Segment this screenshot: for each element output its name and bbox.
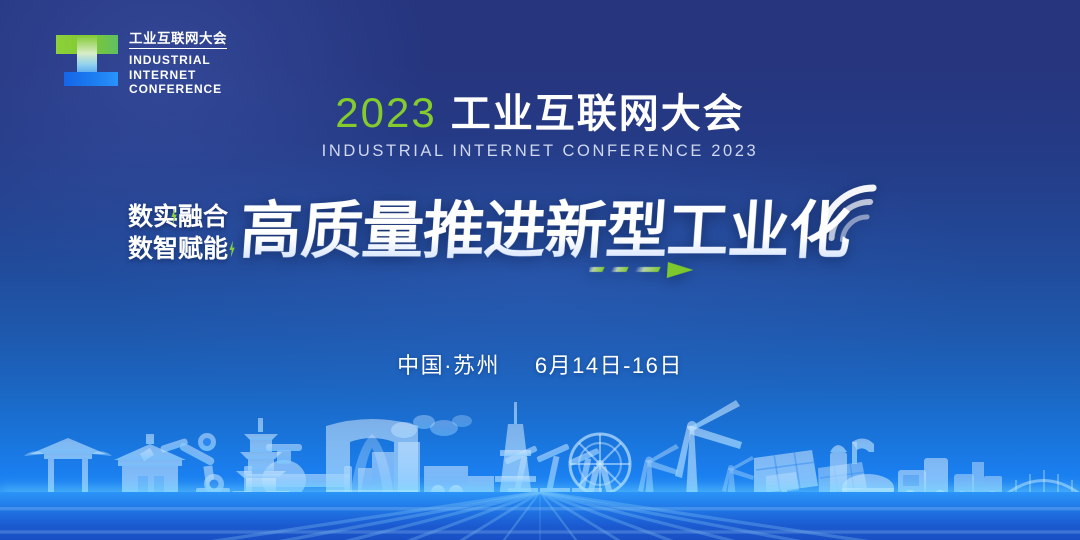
- slogan-main-text: 高质量推进新型工业化: [238, 197, 853, 266]
- conference-poster: 工业互联网大会 INDUSTRIAL INTERNET CONFERENCE 2…: [0, 0, 1080, 540]
- slogan-secondary-line-1-text: 数实融合: [128, 203, 228, 231]
- event-info-row: 中国·苏州 6月14日-16日: [0, 348, 1080, 380]
- logo-english-name: INDUSTRIAL INTERNET CONFERENCE: [129, 53, 227, 97]
- wifi-signal-icon: [813, 180, 887, 242]
- logo-block[interactable]: 工业互联网大会 INDUSTRIAL INTERNET CONFERENCE: [56, 28, 227, 97]
- industrial-internet-conference-logo-icon: [56, 28, 118, 90]
- event-dates: 6月14日-16日: [535, 353, 683, 378]
- event-location: 中国·苏州: [397, 353, 500, 378]
- chinese-pavilion-icon: [24, 438, 112, 498]
- logo-english-line-1: INDUSTRIAL: [129, 53, 227, 68]
- slogan-main: 高质量推进新型工业化: [237, 196, 852, 268]
- page-subtitle: INDUSTRIAL INTERNET CONFERENCE 2023: [322, 142, 759, 160]
- green-arrow-icon: [589, 260, 706, 280]
- city-industry-skyline: [0, 380, 1080, 540]
- logo-bottom-bar: [64, 72, 118, 86]
- page-title: 工业互联网大会: [451, 94, 745, 134]
- slogan-secondary: 数实融合 数智赋能: [128, 204, 228, 263]
- perspective-grid-floor: [0, 492, 1080, 540]
- logo-english-line-2: INTERNET: [129, 68, 227, 83]
- wind-turbine-icon: [638, 400, 754, 498]
- logo-chinese-name: 工业互联网大会: [129, 31, 227, 49]
- logo-text: 工业互联网大会 INDUSTRIAL INTERNET CONFERENCE: [129, 28, 227, 97]
- subtitle-row: INDUSTRIAL INTERNET CONFERENCE 2023: [0, 142, 1080, 161]
- slogan-secondary-line-2: 数智赋能: [128, 236, 228, 263]
- slogan-secondary-line-1: 数实融合: [128, 204, 228, 231]
- lightning-bolt-icon: [228, 241, 236, 258]
- slogan-secondary-line-2-text: 数智赋能: [128, 235, 228, 263]
- slogan-block: 数实融合 数智赋能 高质量推进新型工业化: [0, 180, 1080, 290]
- title-row: 2023 工业互联网大会: [0, 92, 1080, 134]
- conference-year: 2023: [335, 92, 436, 134]
